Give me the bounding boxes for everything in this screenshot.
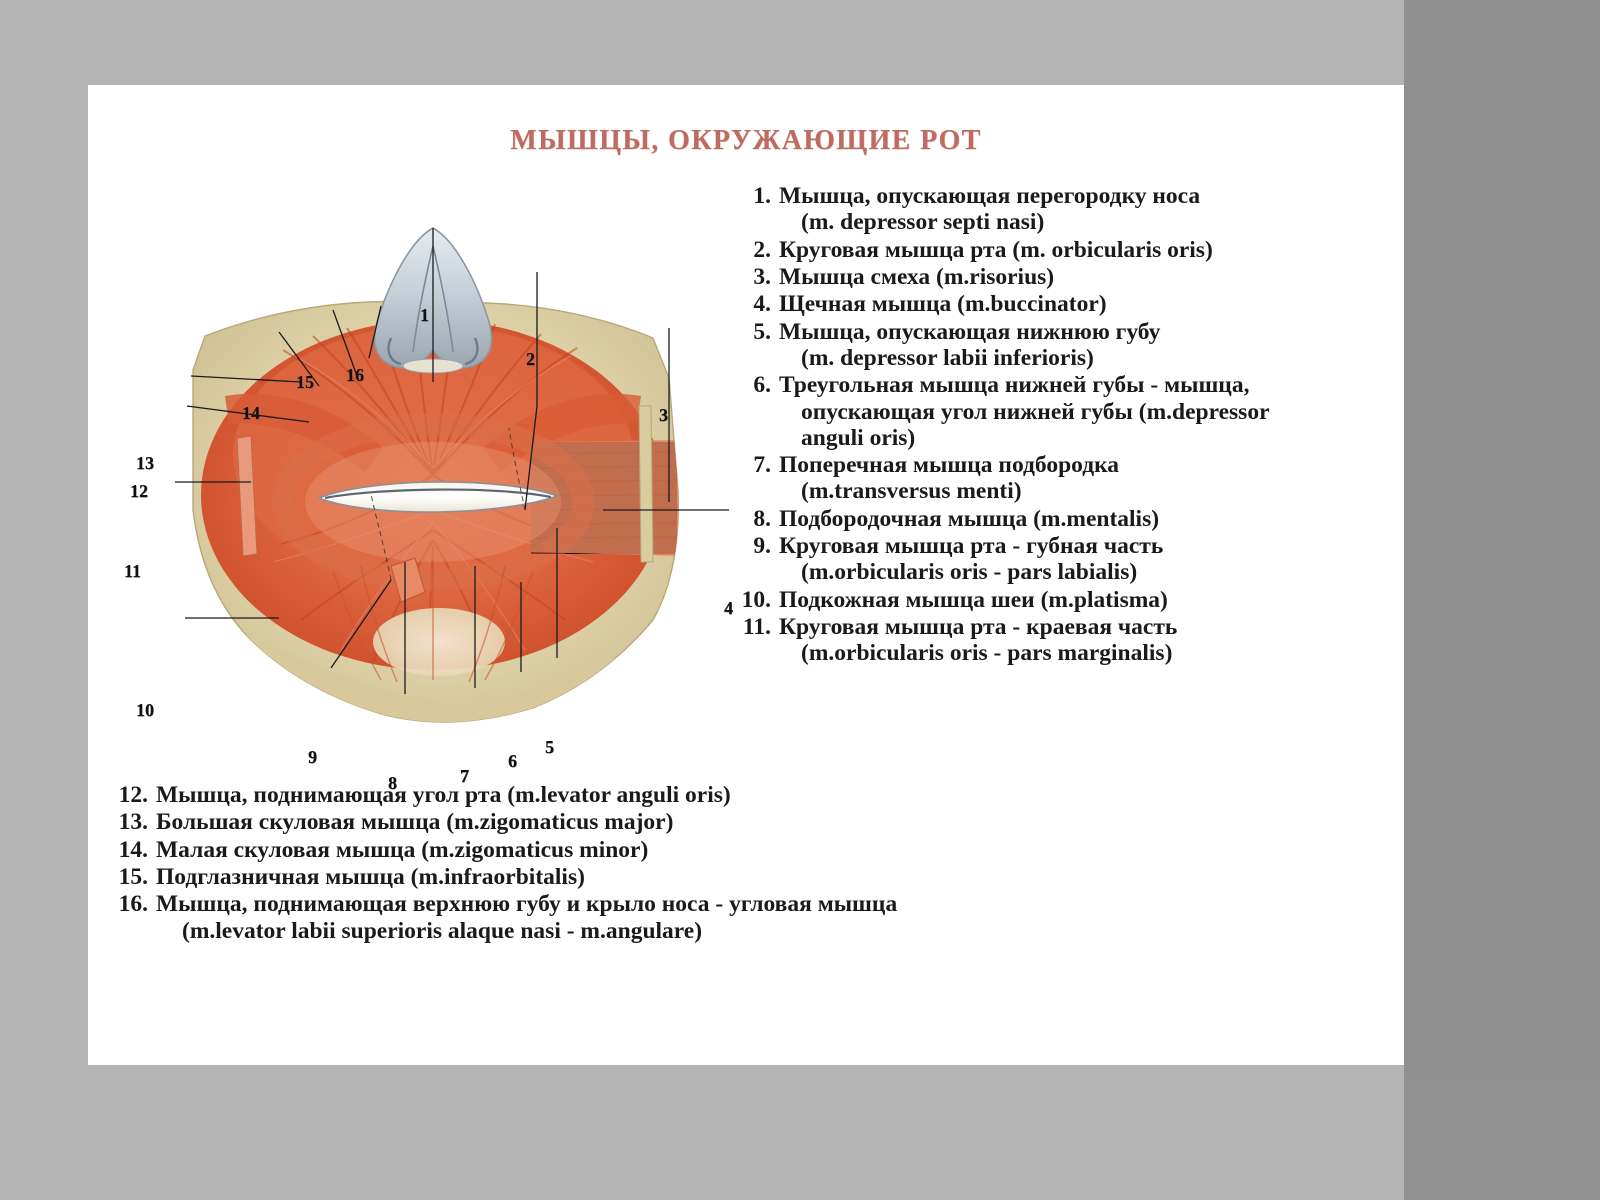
figure-label-4: 4 bbox=[724, 599, 733, 617]
legend-line-1: Круговая мышца рта - губная часть bbox=[779, 533, 1163, 559]
legend-bottom-block: 12. Мышца, поднимающая угол рта (m.levat… bbox=[102, 782, 1402, 945]
legend-line-2: (m.transversus menti) bbox=[779, 478, 1393, 504]
legend-line-1: Круговая мышца рта (m. orbicularis oris) bbox=[779, 237, 1213, 263]
legend-item-6: 6. Треугольная мышца нижней губы - мышца… bbox=[733, 372, 1393, 451]
legend-item-14: 14. Малая скуловая мышца (m.zigomaticus … bbox=[102, 837, 1402, 863]
legend-item-13: 13. Большая скуловая мышца (m.zigomaticu… bbox=[102, 809, 1402, 835]
legend-number: 8. bbox=[733, 506, 771, 532]
figure-label-13: 13 bbox=[136, 454, 154, 472]
legend-line-2: (m.orbicularis oris - pars labialis) bbox=[779, 559, 1393, 585]
legend-number: 14. bbox=[102, 837, 148, 863]
legend-item-11: 11. Круговая мышца рта - краевая часть (… bbox=[733, 614, 1393, 667]
legend-line-1: Малая скуловая мышца (m.zigomaticus mino… bbox=[156, 837, 648, 863]
backdrop-bottom-right-panel bbox=[1404, 1074, 1600, 1200]
legend-number: 11. bbox=[733, 614, 771, 640]
figure-label-12: 12 bbox=[130, 482, 148, 500]
figure-label-5: 5 bbox=[545, 738, 554, 756]
anatomy-illustration bbox=[133, 210, 733, 740]
legend-text: Поперечная мышца подбородка (m.transvers… bbox=[779, 452, 1393, 505]
risorius-strand bbox=[639, 406, 653, 562]
legend-right-column: 1. Мышца, опускающая перегородку носа (m… bbox=[733, 183, 1393, 668]
legend-number: 16. bbox=[102, 891, 148, 917]
legend-line-2: (m.orbicularis oris - pars marginalis) bbox=[779, 640, 1393, 666]
legend-item-8: 8. Подбородочная мышца (m.mentalis) bbox=[733, 506, 1393, 532]
legend-line-1: Мышца, поднимающая угол рта (m.levator a… bbox=[156, 782, 731, 808]
legend-line-1: Мышца, поднимающая верхнюю губу и крыло … bbox=[156, 891, 897, 917]
legend-number: 13. bbox=[102, 809, 148, 835]
legend-line-2: (m. depressor septi nasi) bbox=[779, 209, 1393, 235]
legend-text: Мышца смеха (m.risorius) bbox=[779, 264, 1393, 290]
legend-text: Подглазничная мышца (m.infraorbitalis) bbox=[156, 864, 1402, 890]
legend-text: Щечная мышца (m.buccinator) bbox=[779, 291, 1393, 317]
legend-line-1: Щечная мышца (m.buccinator) bbox=[779, 291, 1107, 317]
legend-line-1: Поперечная мышца подбородка bbox=[779, 452, 1119, 478]
legend-line-2: (m. depressor labii inferioris) bbox=[779, 345, 1393, 371]
legend-text: Круговая мышца рта - краевая часть (m.or… bbox=[779, 614, 1393, 667]
legend-text: Треугольная мышца нижней губы - мышца, о… bbox=[779, 372, 1393, 451]
figure-label-15: 15 bbox=[296, 373, 314, 391]
legend-line-1: Треугольная мышца нижней губы - мышца, bbox=[779, 372, 1249, 398]
legend-number: 6. bbox=[733, 372, 771, 398]
legend-line-1: Подбородочная мышца (m.mentalis) bbox=[779, 506, 1159, 532]
figure-label-1: 1 bbox=[420, 306, 429, 324]
legend-line-1: Большая скуловая мышца (m.zigomaticus ma… bbox=[156, 809, 673, 835]
legend-text: Мышца, поднимающая угол рта (m.levator a… bbox=[156, 782, 1402, 808]
anatomy-figure: 1 2 3 4 5 6 7 8 9 10 11 12 13 14 15 16 bbox=[108, 190, 748, 780]
figure-label-11: 11 bbox=[124, 562, 141, 580]
legend-line-1: Круговая мышца рта - краевая часть bbox=[779, 614, 1177, 640]
legend-line-2: опускающая угол нижней губы (m.depressor bbox=[779, 399, 1393, 425]
legend-item-2: 2. Круговая мышца рта (m. orbicularis or… bbox=[733, 237, 1393, 263]
legend-line-3: anguli oris) bbox=[779, 425, 1393, 451]
legend-text: Круговая мышца рта - губная часть (m.orb… bbox=[779, 533, 1393, 586]
legend-number: 10. bbox=[733, 587, 771, 613]
legend-text: Малая скуловая мышца (m.zigomaticus mino… bbox=[156, 837, 1402, 863]
legend-text: Подбородочная мышца (m.mentalis) bbox=[779, 506, 1393, 532]
backdrop-bottom-strip bbox=[0, 1155, 1404, 1200]
legend-number: 1. bbox=[733, 183, 771, 209]
legend-number: 3. bbox=[733, 264, 771, 290]
legend-item-4: 4. Щечная мышца (m.buccinator) bbox=[733, 291, 1393, 317]
figure-label-16: 16 bbox=[346, 366, 364, 384]
legend-line-2: (m.levator labii superioris alaque nasi … bbox=[156, 918, 1402, 944]
legend-line-1: Подглазничная мышца (m.infraorbitalis) bbox=[156, 864, 585, 890]
legend-text: Круговая мышца рта (m. orbicularis oris) bbox=[779, 237, 1393, 263]
legend-number: 5. bbox=[733, 319, 771, 345]
figure-label-6: 6 bbox=[508, 752, 517, 770]
legend-text: Мышца, опускающая перегородку носа (m. d… bbox=[779, 183, 1393, 236]
figure-label-2: 2 bbox=[526, 350, 535, 368]
legend-item-5: 5. Мышца, опускающая нижнюю губу (m. dep… bbox=[733, 319, 1393, 372]
legend-line-1: Мышца, опускающая нижнюю губу bbox=[779, 319, 1160, 345]
legend-line-1: Мышца смеха (m.risorius) bbox=[779, 264, 1054, 290]
legend-number: 4. bbox=[733, 291, 771, 317]
legend-item-16: 16. Мышца, поднимающая верхнюю губу и кр… bbox=[102, 891, 1402, 944]
legend-text: Мышца, опускающая нижнюю губу (m. depres… bbox=[779, 319, 1393, 372]
legend-number: 12. bbox=[102, 782, 148, 808]
legend-number: 15. bbox=[102, 864, 148, 890]
legend-item-12: 12. Мышца, поднимающая угол рта (m.levat… bbox=[102, 782, 1402, 808]
legend-item-7: 7. Поперечная мышца подбородка (m.transv… bbox=[733, 452, 1393, 505]
legend-text: Мышца, поднимающая верхнюю губу и крыло … bbox=[156, 891, 1402, 944]
slide-panel: МЫШЦЫ, ОКРУЖАЮЩИЕ РОТ bbox=[88, 85, 1404, 1065]
legend-number: 7. bbox=[733, 452, 771, 478]
legend-number: 9. bbox=[733, 533, 771, 559]
legend-line-1: Мышца, опускающая перегородку носа bbox=[779, 183, 1200, 209]
legend-line-1: Подкожная мышца шеи (m.platisma) bbox=[779, 587, 1168, 613]
figure-label-3: 3 bbox=[659, 406, 668, 424]
legend-item-1: 1. Мышца, опускающая перегородку носа (m… bbox=[733, 183, 1393, 236]
figure-label-14: 14 bbox=[242, 404, 260, 422]
legend-text: Большая скуловая мышца (m.zigomaticus ma… bbox=[156, 809, 1402, 835]
legend-item-15: 15. Подглазничная мышца (m.infraorbitali… bbox=[102, 864, 1402, 890]
figure-label-10: 10 bbox=[136, 701, 154, 719]
figure-label-9: 9 bbox=[308, 748, 317, 766]
legend-item-9: 9. Круговая мышца рта - губная часть (m.… bbox=[733, 533, 1393, 586]
legend-number: 2. bbox=[733, 237, 771, 263]
legend-item-3: 3. Мышца смеха (m.risorius) bbox=[733, 264, 1393, 290]
legend-item-10: 10. Подкожная мышца шеи (m.platisma) bbox=[733, 587, 1393, 613]
backdrop-right-panel bbox=[1404, 0, 1600, 1074]
legend-text: Подкожная мышца шеи (m.platisma) bbox=[779, 587, 1393, 613]
chin-region bbox=[373, 608, 505, 676]
page-title: МЫШЦЫ, ОКРУЖАЮЩИЕ РОТ bbox=[88, 125, 1404, 157]
